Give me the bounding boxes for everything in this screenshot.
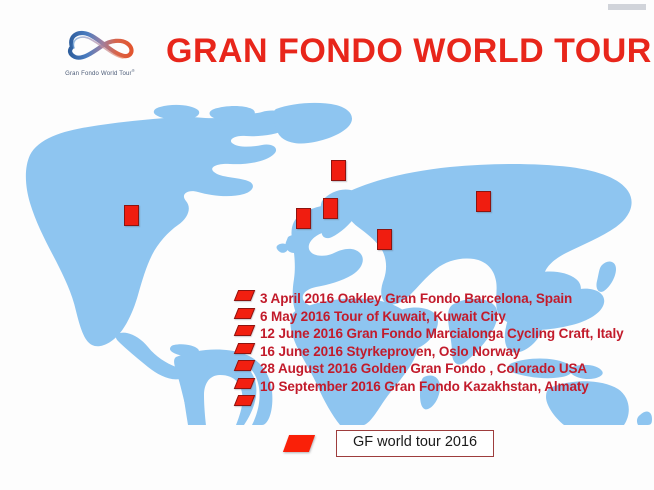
event-bullet-marker-icon	[234, 360, 255, 371]
event-label: 28 August 2016 Golden Gran Fondo , Color…	[260, 360, 587, 378]
page-title-text: GRAN FONDO WORLD TOUR	[166, 32, 652, 70]
list-item[interactable]: 6 May 2016 Tour of Kuwait, Kuwait City	[236, 308, 654, 326]
event-label: 16 June 2016 Styrkeproven, Oslo Norway	[260, 343, 520, 361]
poster-canvas: Gran Fondo World Tour® GRAN FONDO WORLD …	[0, 0, 654, 490]
event-bullet-marker-icon	[234, 308, 255, 319]
event-list: 3 April 2016 Oakley Gran Fondo Barcelona…	[236, 290, 654, 395]
event-label: 10 September 2016 Gran Fondo Kazakhstan,…	[260, 378, 589, 396]
logo-caption: Gran Fondo World Tour®	[52, 68, 148, 77]
event-label: 12 June 2016 Gran Fondo Marcialonga Cycl…	[260, 325, 624, 343]
legend-label: GF world tour 2016	[336, 430, 494, 457]
list-item[interactable]: 28 August 2016 Golden Gran Fondo , Color…	[236, 360, 654, 378]
list-item[interactable]: 16 June 2016 Styrkeproven, Oslo Norway	[236, 343, 654, 361]
list-item[interactable]: 3 April 2016 Oakley Gran Fondo Barcelona…	[236, 290, 654, 308]
marker-almaty-kazakhstan[interactable]	[476, 191, 491, 212]
marker-kuwait-city[interactable]	[377, 229, 392, 250]
infinity-ribbon-logo: Gran Fondo World Tour®	[52, 25, 148, 77]
legend-marker-swatch-icon	[283, 435, 315, 452]
event-label: 3 April 2016 Oakley Gran Fondo Barcelona…	[260, 290, 572, 308]
page-title: GRAN FONDO WORLD TOUR®	[166, 34, 654, 68]
event-bullet-marker-icon	[234, 378, 255, 389]
event-bullet-marker-icon	[234, 325, 255, 336]
marker-oslo-norway[interactable]	[331, 160, 346, 181]
list-item[interactable]: 10 September 2016 Gran Fondo Kazakhstan,…	[236, 378, 654, 396]
event-label: 6 May 2016 Tour of Kuwait, Kuwait City	[260, 308, 506, 326]
marker-colorado-usa[interactable]	[124, 205, 139, 226]
logo-caption-registered-mark: ®	[132, 68, 135, 73]
list-item[interactable]: 12 June 2016 Gran Fondo Marcialonga Cycl…	[236, 325, 654, 343]
marker-barcelona-spain[interactable]	[296, 208, 311, 229]
marker-italy[interactable]	[323, 198, 338, 219]
legend: GF world tour 2016	[286, 430, 494, 457]
poster-header: Gran Fondo World Tour® GRAN FONDO WORLD …	[0, 22, 654, 80]
event-bullet-marker-icon	[234, 343, 255, 354]
event-bullet-marker-icon	[234, 290, 255, 301]
window-scrollbar-artifact	[608, 4, 646, 10]
